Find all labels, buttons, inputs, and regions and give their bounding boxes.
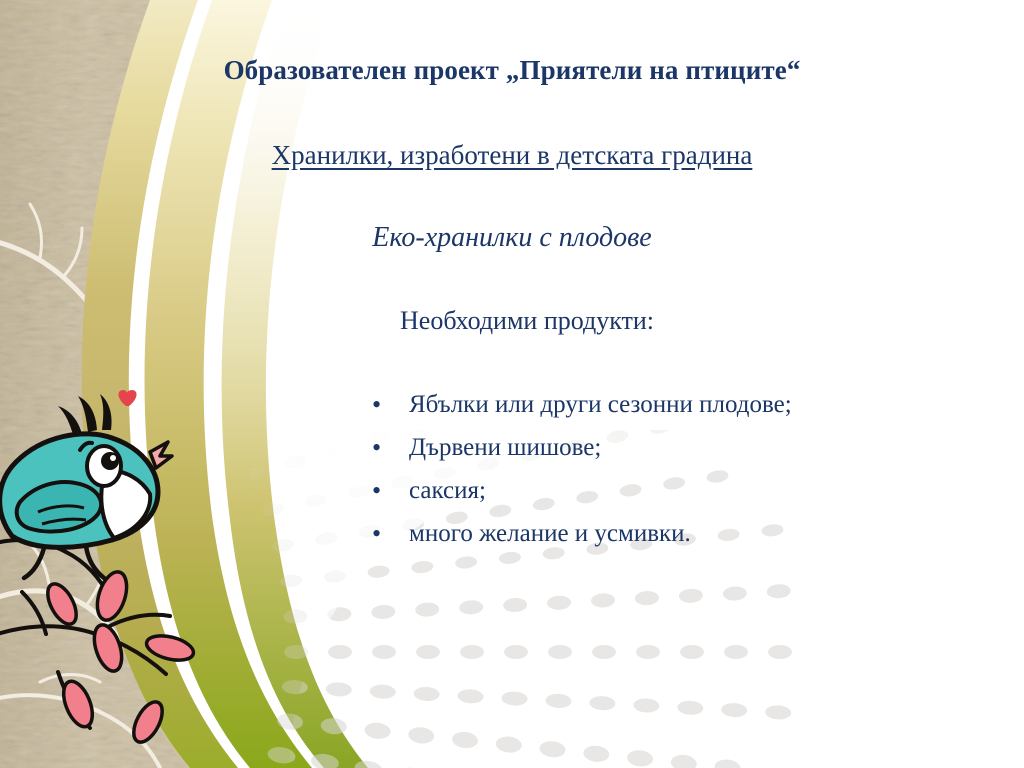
materials-label: Необходими продукти: xyxy=(400,306,654,336)
slide-canvas: Образователен проект „Приятели на птицит… xyxy=(0,0,1024,768)
list-item: • много желание и усмивки. xyxy=(368,515,988,558)
list-item-label: много желание и усмивки. xyxy=(409,515,691,553)
list-item-label: саксия; xyxy=(409,472,486,510)
slide-text-content: Образователен проект „Приятели на птицит… xyxy=(0,0,1024,768)
bullet-icon: • xyxy=(368,386,409,424)
bullet-icon: • xyxy=(368,429,409,467)
bullet-icon: • xyxy=(368,515,409,553)
subtitle-text: Хранилки, изработени в детската градина xyxy=(272,140,753,170)
materials-list: • Ябълки или други сезонни плодове; • Дъ… xyxy=(368,386,988,558)
page-title: Образователен проект „Приятели на птицит… xyxy=(0,55,1024,86)
list-item: • Ябълки или други сезонни плодове; xyxy=(368,386,988,429)
section-heading-text: Еко-хранилки с плодове xyxy=(372,222,651,253)
project-title-text: Образователен проект „Приятели на птицит… xyxy=(224,55,801,85)
list-item: • саксия; xyxy=(368,472,988,515)
bullet-icon: • xyxy=(368,472,409,510)
section-heading-italic: Еко-хранилки с плодове xyxy=(0,222,1024,254)
list-item-label: Дървени шишове; xyxy=(409,429,601,467)
subtitle-underlined: Хранилки, изработени в детската градина xyxy=(0,140,1024,171)
list-item: • Дървени шишове; xyxy=(368,429,988,472)
list-item-label: Ябълки или други сезонни плодове; xyxy=(409,386,792,424)
